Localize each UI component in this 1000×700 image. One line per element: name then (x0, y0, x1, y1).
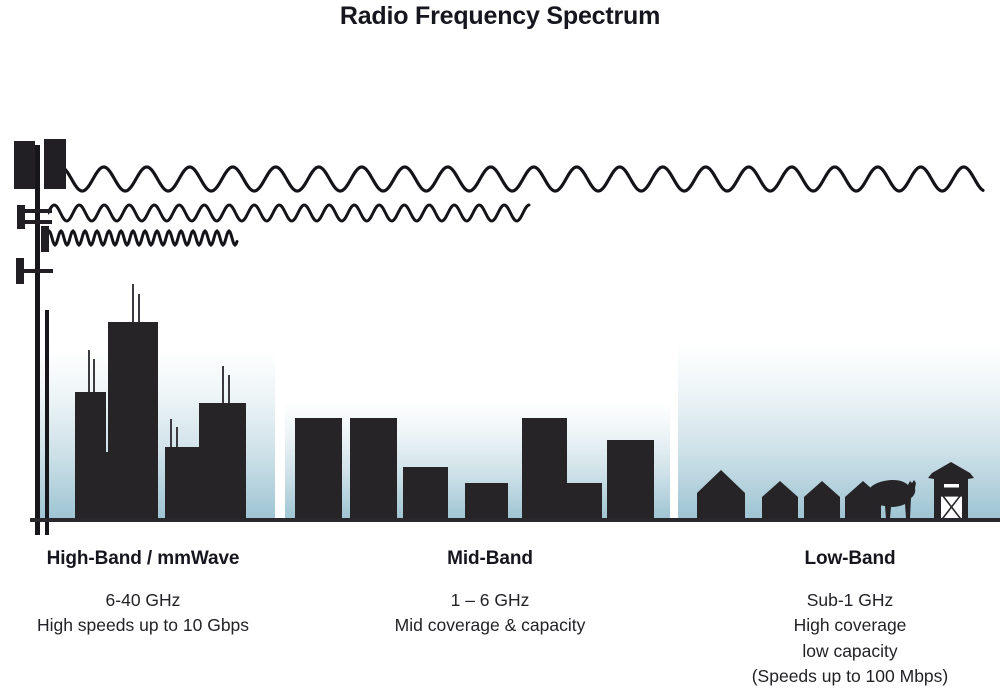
building-antenna (132, 284, 134, 322)
band-detail-line: Sub-1 GHz (700, 588, 1000, 613)
tower-mast-right (45, 310, 49, 535)
band-details-low: Sub-1 GHz High coverage low capacity (Sp… (700, 588, 1000, 690)
band-title-low: Low-Band (700, 548, 1000, 570)
building-antenna (93, 359, 95, 392)
ground-line (30, 518, 1000, 522)
building-silhouette (295, 418, 342, 520)
building-antenna (88, 350, 90, 392)
high-frequency-wave (46, 224, 246, 252)
building-silhouette (566, 483, 602, 520)
band-title-high: High-Band / mmWave (0, 548, 286, 570)
tower-crossbar-2 (25, 220, 52, 224)
building-antenna (228, 375, 230, 403)
band-detail-line: 1 – 6 GHz (345, 588, 635, 613)
tower-antenna-panel-1 (14, 141, 35, 189)
page-title: Radio Frequency Spectrum (0, 2, 1000, 31)
tower-antenna-panel-4 (41, 226, 49, 252)
building-silhouette (199, 403, 246, 520)
band-detail-line: low capacity (700, 639, 1000, 664)
building-silhouette (522, 418, 567, 520)
building-silhouette (607, 440, 654, 520)
infographic-canvas: Radio Frequency Spectrum (0, 0, 1000, 700)
tower-antenna-panel-3 (17, 205, 25, 229)
tower-mast-left (35, 145, 40, 535)
caption-low-band: Low-Band Sub-1 GHz High coverage low cap… (700, 548, 1000, 690)
tower-crossbar-1 (25, 209, 52, 213)
building-silhouette (403, 467, 448, 520)
building-antenna (138, 294, 140, 322)
tower-antenna-panel-5 (16, 258, 24, 284)
building-silhouette (465, 483, 508, 520)
band-details-high: 6-40 GHz High speeds up to 10 Gbps (0, 588, 286, 639)
cell-tower (0, 130, 70, 530)
caption-mid-band: Mid-Band 1 – 6 GHz Mid coverage & capaci… (345, 548, 635, 639)
band-title-mid: Mid-Band (345, 548, 635, 570)
building-silhouette (108, 322, 158, 520)
band-details-mid: 1 – 6 GHz Mid coverage & capacity (345, 588, 635, 639)
building-antenna (170, 419, 172, 447)
building-silhouette (350, 418, 397, 520)
building-antenna (222, 366, 224, 403)
band-detail-line: High coverage (700, 613, 1000, 638)
caption-high-band: High-Band / mmWave 6-40 GHz High speeds … (0, 548, 286, 639)
building-antenna (176, 427, 178, 447)
building-silhouette (165, 447, 201, 520)
band-detail-line: Mid coverage & capacity (345, 613, 635, 638)
band-detail-line: (Speeds up to 100 Mbps) (700, 664, 1000, 689)
low-frequency-wave (50, 160, 990, 198)
tower-crossbar-3 (24, 269, 53, 273)
band-detail-line: High speeds up to 10 Gbps (0, 613, 286, 638)
band-detail-line: 6-40 GHz (0, 588, 286, 613)
tower-antenna-panel-2 (44, 139, 66, 189)
building-silhouette (75, 392, 106, 520)
